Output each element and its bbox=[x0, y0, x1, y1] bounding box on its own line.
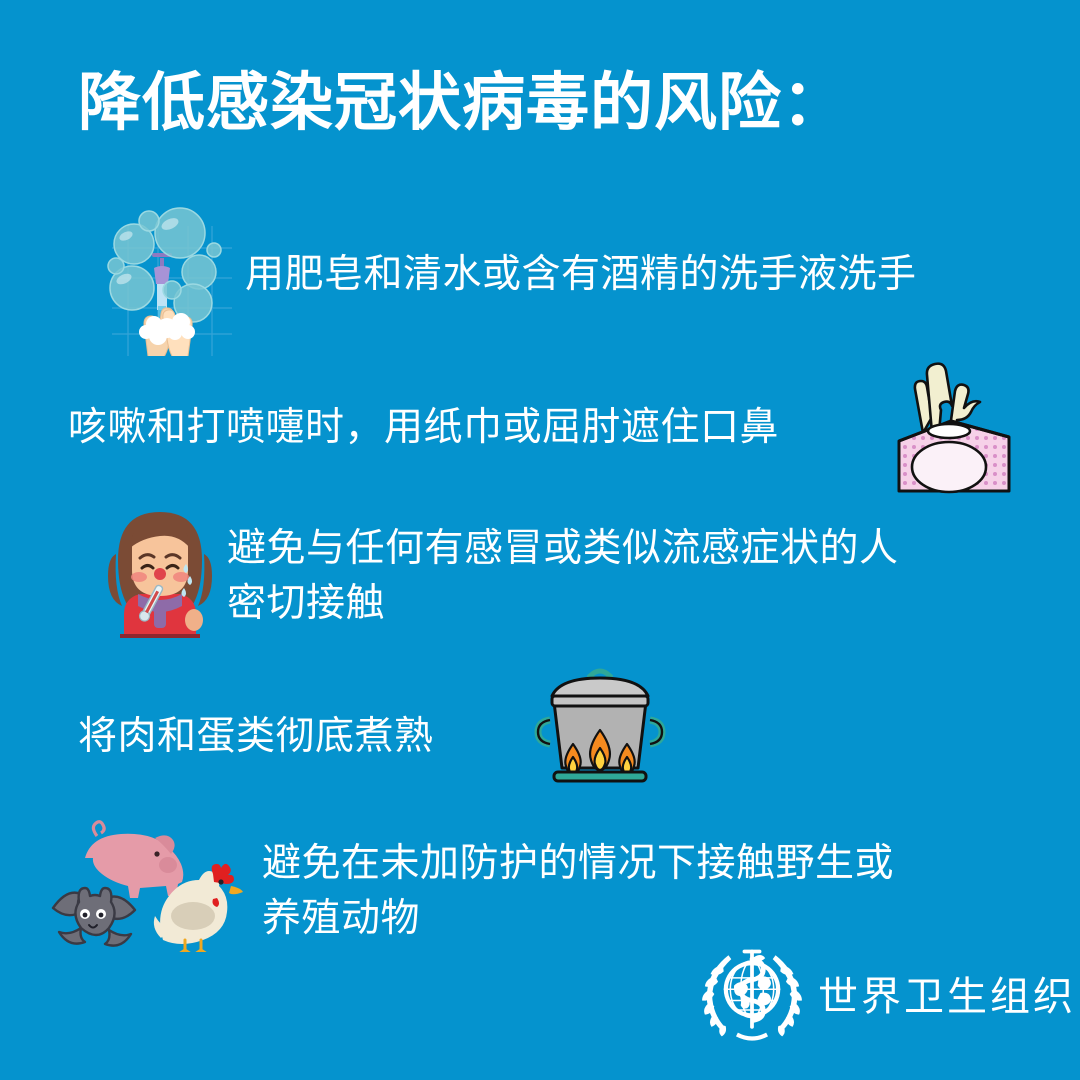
tip-text-cover-cough: 咳嗽和打喷嚏时，用纸巾或屈肘遮住口鼻 bbox=[68, 400, 779, 455]
farm-wild-animals-icon bbox=[45, 812, 275, 952]
tissue-box-icon bbox=[875, 345, 1025, 500]
tip-line-2: 养殖动物 bbox=[262, 891, 1002, 946]
tip-text-cook-thoroughly: 将肉和蛋类彻底煮熟 bbox=[78, 709, 434, 764]
pig-shape bbox=[85, 822, 183, 898]
handwashing-bubbles-icon bbox=[92, 206, 242, 356]
tip-text-wash-hands: 用肥皂和清水或含有酒精的洗手液洗手 bbox=[245, 247, 917, 302]
bat-shape bbox=[53, 888, 135, 946]
tip-line-2: 密切接触 bbox=[227, 576, 997, 631]
page-title: 降低感染冠状病毒的风险： bbox=[78, 66, 846, 140]
sick-person-icon bbox=[98, 502, 222, 638]
poster-canvas: 降低感染冠状病毒的风险： bbox=[0, 0, 1080, 1080]
cooking-pot-icon bbox=[528, 662, 672, 788]
tip-text-avoid-animals: 避免在未加防护的情况下接触野生或 养殖动物 bbox=[262, 836, 1002, 947]
tip-line-1: 避免与任何有感冒或类似流感症状的人 bbox=[227, 521, 997, 576]
who-organization-name: 世界卫生组织 bbox=[818, 964, 1076, 1022]
tip-text-avoid-close-contact: 避免与任何有感冒或类似流感症状的人 密切接触 bbox=[227, 521, 997, 632]
tip-line-1: 避免在未加防护的情况下接触野生或 bbox=[262, 836, 1002, 891]
who-emblem-icon bbox=[700, 944, 804, 1042]
who-footer: 世界卫生组织 bbox=[700, 944, 1076, 1042]
